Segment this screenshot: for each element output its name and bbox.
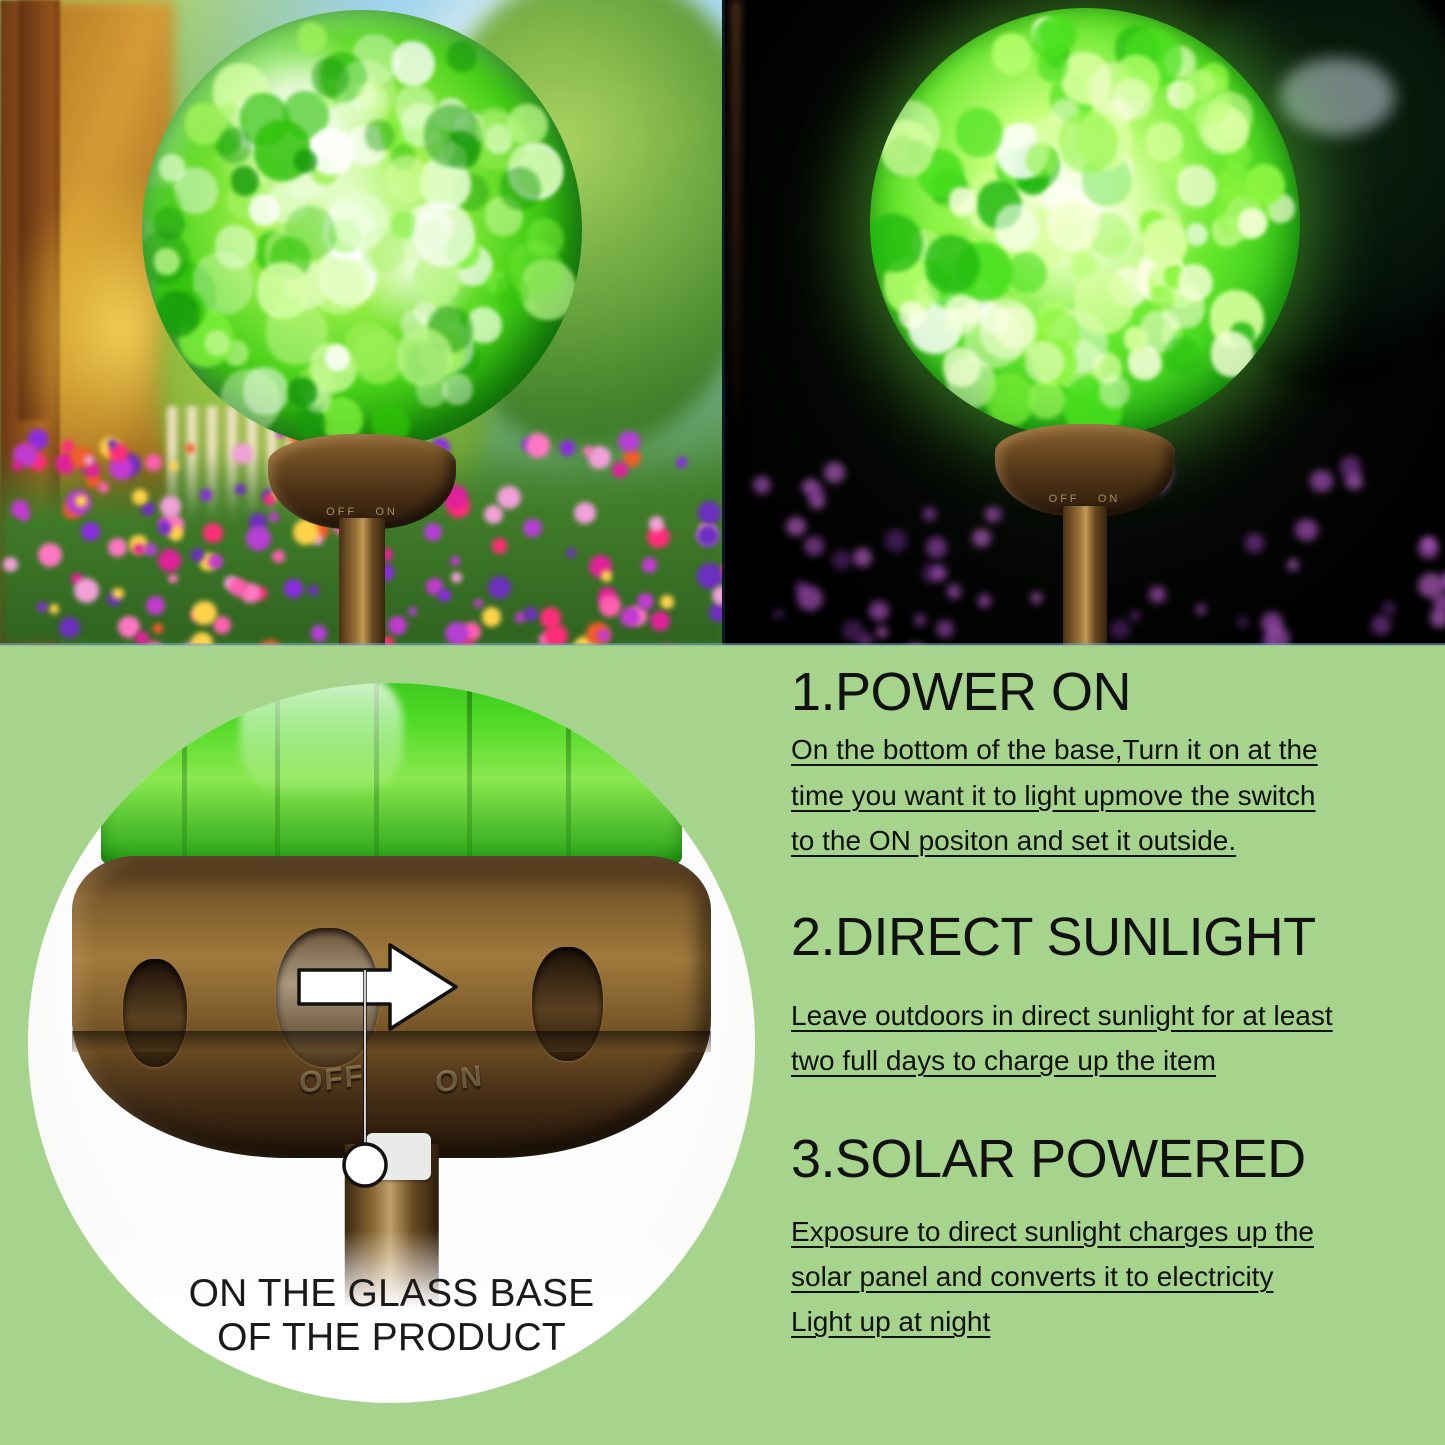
base-off-on-text: OFF ON <box>268 506 456 518</box>
flower-blossom <box>160 496 180 516</box>
step-3-line-3: Light up at night <box>791 1306 990 1337</box>
glass-mottle-cell <box>447 41 477 72</box>
flower-blossom <box>1245 533 1264 552</box>
glass-mottle-cell <box>257 262 311 319</box>
glass-mottle-cell <box>1059 111 1118 173</box>
flower-blossom <box>1237 616 1249 628</box>
glass-mottle-cell <box>310 254 367 314</box>
glass-seam <box>182 683 187 870</box>
glass-mottle-cell <box>1047 195 1100 251</box>
flower-blossom <box>926 537 947 558</box>
flower-blossom <box>853 548 872 567</box>
glass-mottle-cell <box>1238 208 1267 238</box>
flower-blossom <box>484 505 503 524</box>
glass-mottle-cell <box>1211 331 1254 376</box>
glass-seam <box>566 683 571 870</box>
flower-blossom <box>566 548 576 558</box>
flower-blossom <box>936 620 955 639</box>
step-1-body: On the bottom of the base,Turn it on at … <box>791 727 1421 863</box>
flower-blossom <box>650 611 670 631</box>
step-1-power-on: 1.POWER ON On the bottom of the base,Tur… <box>791 664 1421 863</box>
glass-mottle-cell <box>956 108 1003 158</box>
glass-mottle-cell <box>1177 165 1217 207</box>
glass-mottle-cell <box>1164 337 1201 376</box>
flower-blossom <box>876 626 888 638</box>
flower-blossom <box>59 617 80 638</box>
glass-mottle-cell <box>221 369 281 432</box>
flower-blossom <box>3 557 18 572</box>
flower-blossom <box>272 550 285 563</box>
flower-blossom <box>524 607 538 621</box>
step-1-line-1: On the bottom of the base,Turn it on at … <box>791 734 1318 765</box>
glass-mottle-cell <box>1074 271 1134 334</box>
flower-blossom <box>642 557 658 573</box>
base-ridge <box>72 1031 712 1052</box>
flower-blossom <box>492 538 507 553</box>
flower-blossom <box>192 601 217 626</box>
glass-mottle-cell <box>925 235 980 292</box>
flower-blossom <box>81 522 100 541</box>
flower-blossom <box>660 595 674 609</box>
flower-blossom <box>832 550 851 569</box>
instruction-panel: OFFON ON THE GLASS BASE O <box>0 646 1445 1445</box>
flower-blossom <box>574 502 596 524</box>
flower-blossom <box>599 595 621 617</box>
glass-mottle-cell <box>508 104 548 146</box>
flower-blossom <box>438 589 451 602</box>
step-3-body: Exposure to direct sunlight charges up t… <box>791 1209 1421 1345</box>
glass-seam <box>467 683 472 870</box>
flower-blossom <box>158 522 171 535</box>
inset-caption-line1: ON THE GLASS BASE <box>28 1272 755 1316</box>
glass-mottle-cell <box>414 202 475 266</box>
flower-blossom <box>544 624 568 645</box>
flower-blossom <box>1149 586 1166 603</box>
flower-blossom <box>993 509 1003 519</box>
flower-blossom <box>697 563 722 588</box>
glass-gazing-ball <box>142 10 582 450</box>
glass-mottle-cell <box>992 33 1032 75</box>
flower-blossom <box>169 526 183 540</box>
glass-mottle-cell <box>365 120 395 152</box>
product-infographic: OFF ON OFF ON <box>0 0 1445 1445</box>
glass-mottle-cell <box>985 373 1035 425</box>
bronze-base: OFF ON <box>995 424 1175 516</box>
glass-mottle-cell <box>334 192 388 249</box>
glass-ball-bottom-edge <box>101 683 683 870</box>
flower-blossom <box>649 516 664 531</box>
flower-blossom <box>450 556 460 566</box>
step-3-line-2: solar panel and converts it to electrici… <box>791 1261 1273 1292</box>
flower-blossom <box>133 544 144 555</box>
steps-column: 1.POWER ON On the bottom of the base,Tur… <box>791 660 1421 1349</box>
glass-mottle-cell <box>467 307 502 343</box>
flower-blossom <box>451 572 462 583</box>
flower-blossom <box>797 586 822 611</box>
night-left-edge <box>731 0 741 452</box>
glass-mottle-cell <box>345 322 392 372</box>
step-2-body: Leave outdoors in direct sunlight for at… <box>791 993 1421 1084</box>
flower-blossom <box>145 454 162 471</box>
flower-blossom <box>75 495 87 507</box>
on-label: ON <box>434 1059 485 1101</box>
glass-mottle-cell <box>995 204 1039 251</box>
flower-blossom <box>786 517 806 537</box>
glass-mottle-cell <box>949 187 977 216</box>
switch-closeup-inset: OFFON ON THE GLASS BASE O <box>28 683 755 1403</box>
glass-mottle-cell <box>1179 71 1231 126</box>
off-on-embossed-label: OFFON <box>72 1063 712 1097</box>
glass-mottle-cell <box>943 347 981 387</box>
glass-mottle-cell <box>310 128 356 176</box>
glass-mottle-cell <box>297 22 327 53</box>
garden-stake <box>339 518 385 645</box>
flower-blossom <box>311 625 327 641</box>
step-2-line-1: Leave outdoors in direct sunlight for at… <box>791 1000 1333 1031</box>
flower-blossom <box>1340 456 1362 478</box>
garden-stake <box>1063 506 1107 645</box>
flower-blossom <box>698 501 722 525</box>
flower-blossom <box>158 549 181 572</box>
flower-blossom <box>108 439 117 448</box>
glass-mottle-cell <box>979 298 1036 358</box>
flower-blossom <box>388 616 407 635</box>
product-photo-daytime: OFF ON <box>0 0 724 645</box>
bronze-base-underside: OFFON <box>72 856 712 1158</box>
flower-blossom <box>523 519 542 538</box>
base-off-on-text: OFF ON <box>995 493 1175 505</box>
glass-mottle-cell <box>870 214 923 273</box>
flower-blossom <box>869 601 889 621</box>
flower-blossom <box>191 548 205 562</box>
flower-blossom <box>474 599 483 608</box>
step-3-solar-powered: 3.SOLAR POWERED Exposure to direct sunli… <box>791 1131 1421 1344</box>
photo-divider-vertical <box>722 0 725 645</box>
step-2-direct-sunlight: 2.DIRECT SUNLIGHT Leave outdoors in dire… <box>791 909 1421 1083</box>
flower-blossom <box>1418 538 1439 559</box>
flower-blossom <box>284 579 303 598</box>
flower-blossom <box>597 629 611 643</box>
glass-mottle-cell <box>294 149 317 173</box>
glass-mottle-cell <box>424 105 483 167</box>
inset-caption: ON THE GLASS BASE OF THE PRODUCT <box>28 1272 755 1359</box>
flower-blossom <box>676 457 688 469</box>
flower-blossom <box>424 523 442 541</box>
flower-blossom <box>612 462 628 478</box>
flower-blossom <box>618 431 639 452</box>
flower-blossom <box>482 607 501 626</box>
gazing-ball-assembly-day: OFF ON <box>142 10 582 450</box>
flower-blossom <box>144 543 157 556</box>
flower-blossom <box>885 529 908 552</box>
flower-blossom <box>153 623 164 634</box>
glass-mottle-cell <box>1143 219 1188 266</box>
step-2-title: 2.DIRECT SUNLIGHT <box>791 909 1421 966</box>
glass-mottle-cell <box>142 185 181 226</box>
flower-blossom <box>1295 519 1317 541</box>
flower-blossom <box>931 565 947 581</box>
flower-blossom <box>264 494 275 505</box>
step-1-title: 1.POWER ON <box>791 664 1421 721</box>
flower-blossom <box>1371 615 1391 635</box>
glass-mottle-cell <box>288 377 318 408</box>
flower-blossom <box>914 614 926 626</box>
glass-mottle-cell <box>1113 78 1153 120</box>
flower-blossom <box>1110 620 1129 639</box>
glass-mottle-cell <box>1008 252 1047 293</box>
flower-blossom <box>497 486 520 509</box>
glass-highlight <box>240 683 403 801</box>
glass-mottle-cell <box>1150 285 1175 311</box>
flower-blossom <box>146 596 165 615</box>
flower-blossom <box>108 538 127 557</box>
flower-blossom <box>408 607 417 616</box>
flower-blossom <box>1130 611 1140 621</box>
off-label: OFF <box>298 1059 365 1101</box>
glass-mottle-cell <box>285 206 336 260</box>
flower-blossom <box>246 526 271 551</box>
glass-gazing-ball-lit <box>870 8 1300 438</box>
glass-mottle-cell <box>1025 341 1064 382</box>
glass-mottle-cell <box>154 248 179 275</box>
flower-blossom <box>1031 592 1042 603</box>
flower-blossom <box>208 554 223 569</box>
flower-blossom <box>308 585 318 595</box>
flower-blossom <box>168 574 177 583</box>
glass-mottle-cell <box>476 107 514 147</box>
flower-blossom <box>753 476 771 494</box>
glass-mottle-cell <box>312 58 349 97</box>
flower-blossom <box>1310 470 1333 493</box>
flower-blossom <box>1382 601 1397 616</box>
flower-blossom <box>697 525 719 547</box>
flower-blossom <box>445 622 469 645</box>
flower-blossom <box>488 576 511 599</box>
glass-mottle-cell <box>1178 264 1213 301</box>
bronze-base: OFF ON <box>268 434 456 529</box>
flower-blossom <box>203 523 223 543</box>
flower-blossom <box>1287 559 1298 570</box>
glass-mottle-cell <box>231 166 259 196</box>
flower-blossom <box>38 543 62 567</box>
glass-mottle-cell <box>386 156 431 204</box>
inset-caption-line2: OF THE PRODUCT <box>28 1316 755 1360</box>
flower-blossom <box>49 604 58 613</box>
glass-mottle-cell <box>205 330 230 356</box>
glass-mottle-cell <box>1099 375 1131 408</box>
photo-strip: OFF ON OFF ON <box>0 0 1445 645</box>
glass-mottle-cell <box>881 120 935 176</box>
glass-mottle-cell <box>249 194 280 226</box>
glass-mottle-cell <box>947 294 980 328</box>
flower-blossom <box>637 593 654 610</box>
glass-mottle-cell <box>1124 326 1148 352</box>
step-3-line-1: Exposure to direct sunlight charges up t… <box>791 1216 1314 1247</box>
glass-mottle-cell <box>218 128 251 163</box>
glass-mottle-cell <box>397 328 453 387</box>
flower-blossom <box>824 462 845 483</box>
flower-blossom <box>37 602 47 612</box>
step-3-title: 3.SOLAR POWERED <box>791 1131 1421 1188</box>
flower-blossom <box>773 609 783 619</box>
glass-mottle-cell <box>1186 223 1208 246</box>
glass-mottle-cell <box>500 167 541 210</box>
glass-mottle-cell <box>392 41 435 86</box>
step-2-line-2: two full days to charge up the item <box>791 1045 1216 1076</box>
glass-mottle-cell <box>1026 143 1058 176</box>
gazing-ball-assembly-night: OFF ON <box>870 8 1300 438</box>
glass-mottle-cell <box>1145 122 1183 162</box>
flower-blossom <box>74 578 99 603</box>
flower-blossom <box>601 570 613 582</box>
glass-mottle-cell <box>156 291 200 337</box>
flower-blossom <box>804 536 824 556</box>
flower-blossom <box>923 507 936 520</box>
flower-blossom <box>1196 604 1206 614</box>
flower-blossom <box>112 588 123 599</box>
flower-blossom <box>1433 593 1445 613</box>
power-switch[interactable] <box>366 1133 431 1180</box>
flower-blossom <box>169 461 179 471</box>
glass-mottle-cell <box>357 82 387 113</box>
flower-blossom <box>235 484 246 495</box>
product-photo-nighttime: OFF ON <box>724 0 1445 645</box>
flower-blossom <box>200 489 213 502</box>
flower-blossom <box>978 594 992 608</box>
step-1-line-2: time you want it to light upmove the swi… <box>791 780 1315 811</box>
glass-mottle-cell <box>1032 21 1068 59</box>
glass-mottle-cell <box>509 241 562 297</box>
glass-mottle-cell <box>899 301 926 329</box>
flower-blossom <box>972 529 990 547</box>
flower-blossom <box>98 482 109 493</box>
flower-blossom <box>947 584 962 599</box>
step-1-line-3: to the ON positon and set it outside. <box>791 825 1236 856</box>
flower-blossom <box>12 461 22 471</box>
